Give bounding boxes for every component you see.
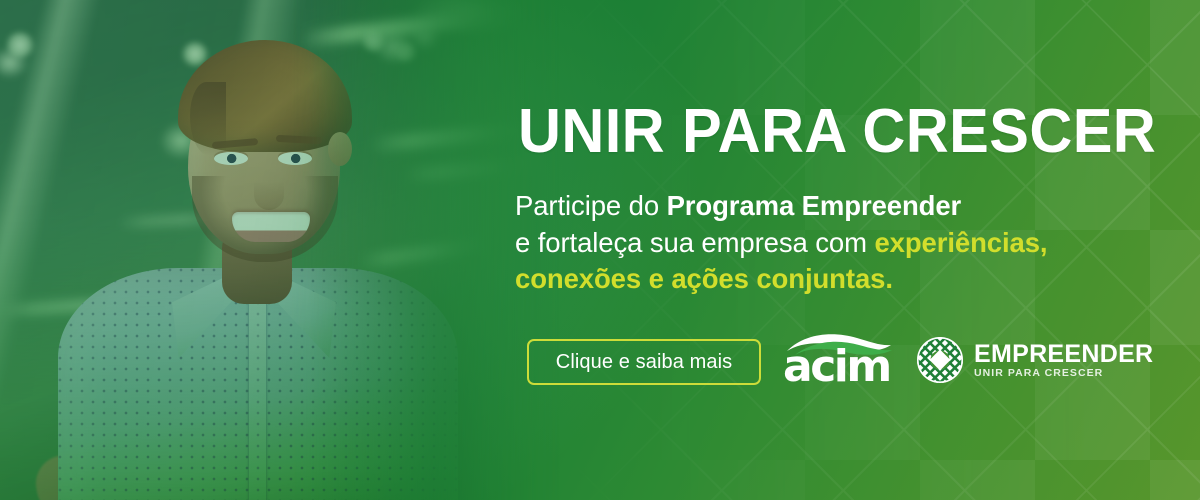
- empreender-text: EMPREENDER UNIR PARA CRESCER: [974, 342, 1153, 379]
- empreender-tagline: UNIR PARA CRESCER: [974, 368, 1153, 379]
- subhead-line3-highlight: conexões e ações conjuntas.: [515, 263, 893, 294]
- acim-logo[interactable]: acim: [783, 329, 891, 391]
- globe-mesh-icon: [917, 337, 963, 383]
- subhead-line1-bold: Programa Empreender: [667, 190, 962, 221]
- acim-wordmark: acim: [783, 345, 891, 389]
- smiling-businessman-photo: [0, 0, 560, 500]
- empreender-name: EMPREENDER: [974, 342, 1153, 367]
- banner-content: UNIR PARA CRESCER Participe do Programa …: [515, 0, 1175, 500]
- subheadline: Participe do Programa Empreender e forta…: [515, 188, 1155, 298]
- subhead-line2-plain: e fortaleça sua empresa com: [515, 227, 874, 258]
- logo-row: acim: [783, 329, 1153, 391]
- headline: UNIR PARA CRESCER: [518, 101, 1156, 163]
- empreender-logo[interactable]: EMPREENDER UNIR PARA CRESCER: [917, 337, 1153, 383]
- photo-edge-fade: [0, 0, 560, 500]
- cta-button[interactable]: Clique e saiba mais: [527, 339, 761, 385]
- subhead-line1-plain: Participe do: [515, 190, 667, 221]
- subhead-line2-highlight: experiências,: [874, 227, 1047, 258]
- promo-banner: UNIR PARA CRESCER Participe do Programa …: [0, 0, 1200, 500]
